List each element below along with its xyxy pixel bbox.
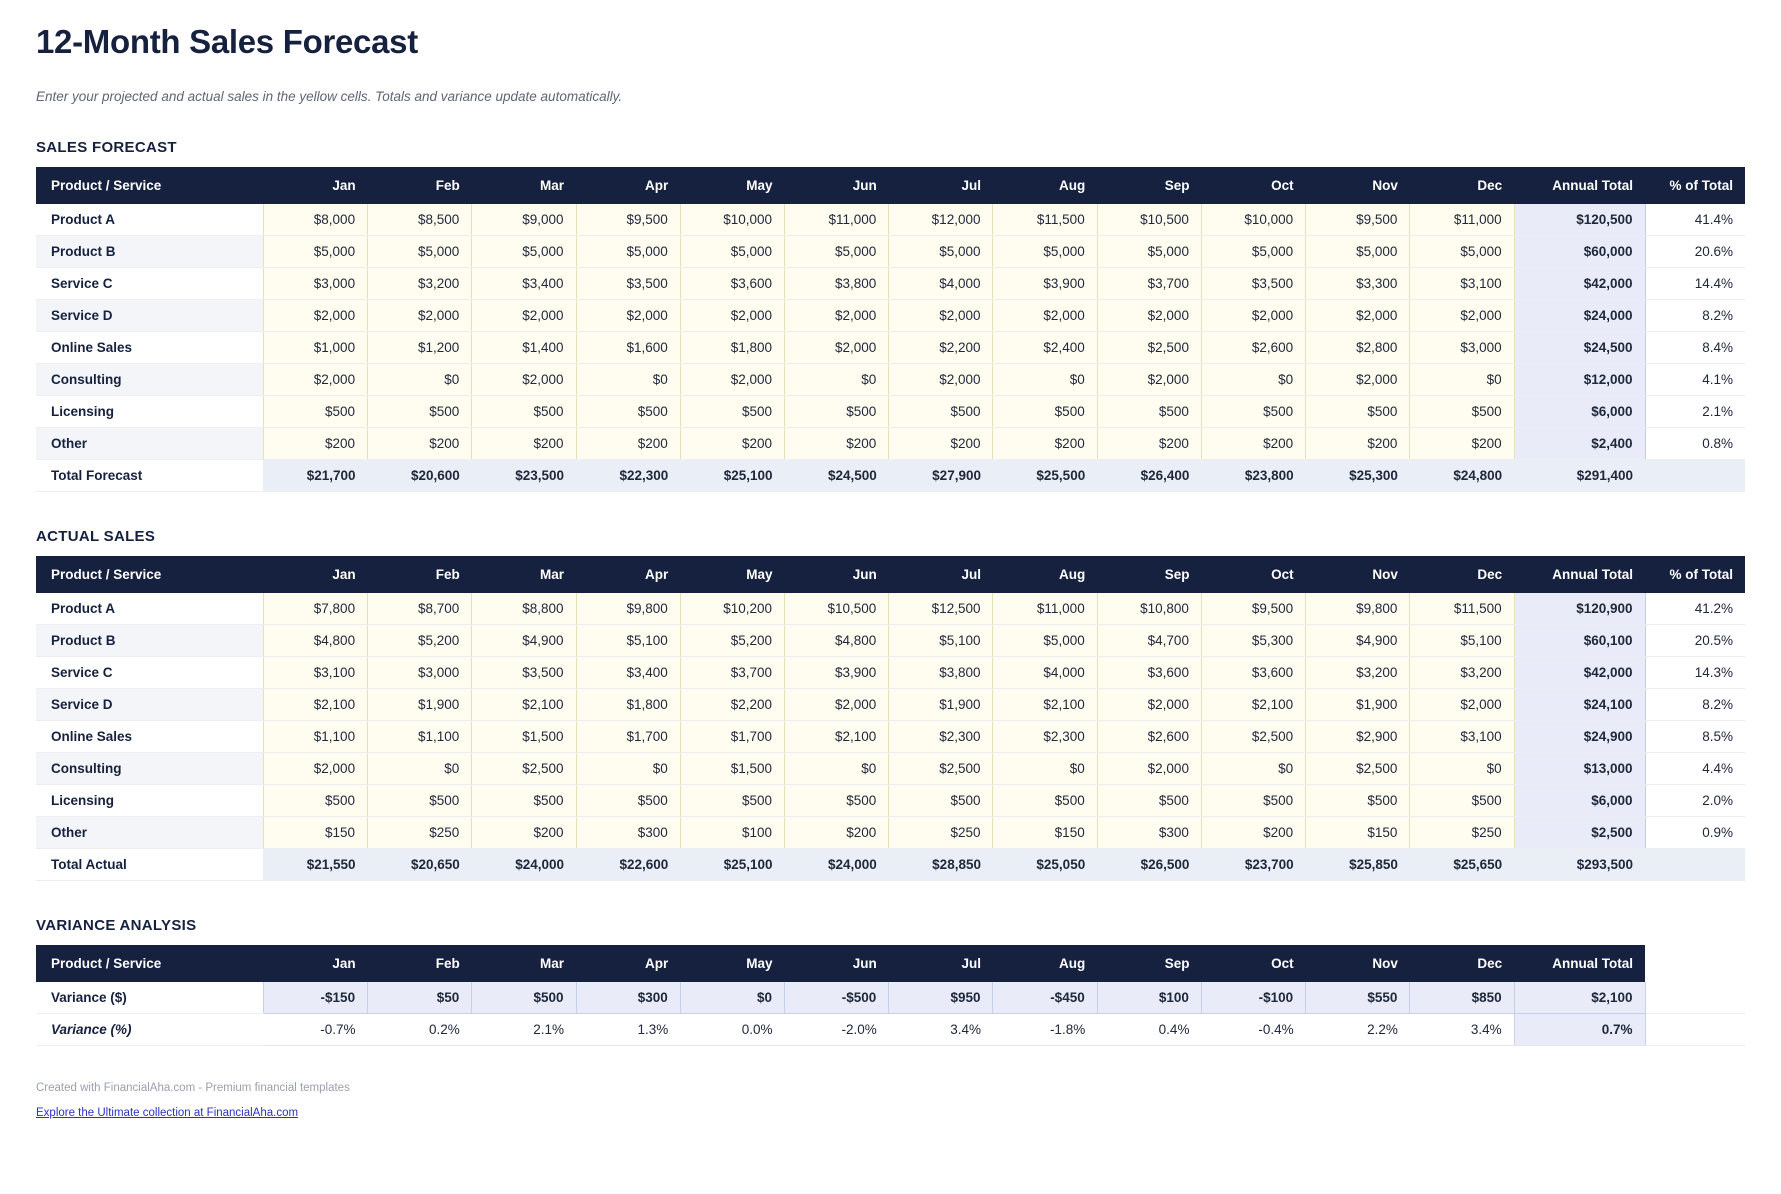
variance-cell-jan: -$150 — [263, 982, 367, 1014]
input-cell-jul[interactable]: $4,000 — [889, 268, 993, 300]
col-header-jun: Jun — [785, 556, 889, 593]
pct-of-total-cell: 4.4% — [1645, 753, 1745, 785]
row-label: Online Sales — [36, 332, 263, 364]
input-cell-sep[interactable]: $2,000 — [1097, 364, 1201, 396]
input-cell-feb[interactable]: $2,000 — [368, 300, 472, 332]
annual-total-cell: $120,900 — [1514, 593, 1645, 625]
input-cell-jul[interactable]: $12,000 — [889, 204, 993, 236]
row-label: Licensing — [36, 785, 263, 817]
input-cell-may[interactable]: $1,700 — [680, 721, 784, 753]
document-page: 12-Month Sales Forecast Enter your proje… — [0, 0, 1781, 1139]
input-cell-sep[interactable]: $300 — [1097, 817, 1201, 849]
input-cell-jul[interactable]: $5,100 — [889, 625, 993, 657]
input-cell-dec[interactable]: $200 — [1410, 428, 1514, 460]
input-cell-nov[interactable]: $2,000 — [1306, 300, 1410, 332]
input-cell-feb[interactable]: $500 — [368, 396, 472, 428]
spacer-cell — [1645, 1014, 1745, 1046]
input-cell-aug[interactable]: $2,000 — [993, 300, 1097, 332]
input-cell-jan[interactable]: $2,000 — [263, 364, 367, 396]
input-cell-aug[interactable]: $200 — [993, 428, 1097, 460]
input-cell-sep[interactable]: $2,500 — [1097, 332, 1201, 364]
input-cell-jan[interactable]: $3,100 — [263, 657, 367, 689]
input-cell-oct[interactable]: $5,000 — [1201, 236, 1305, 268]
variance-cell-oct: -0.4% — [1201, 1014, 1305, 1046]
input-cell-jan[interactable]: $2,000 — [263, 753, 367, 785]
input-cell-mar[interactable]: $2,000 — [472, 300, 576, 332]
input-cell-jan[interactable]: $5,000 — [263, 236, 367, 268]
variance-cell-aug: -$450 — [993, 982, 1097, 1014]
input-cell-aug[interactable]: $5,000 — [993, 236, 1097, 268]
input-cell-oct[interactable]: $3,500 — [1201, 268, 1305, 300]
footer-note: Created with FinancialAha.com - Premium … — [36, 1082, 1745, 1094]
input-cell-jan[interactable]: $150 — [263, 817, 367, 849]
input-cell-may[interactable]: $2,000 — [680, 300, 784, 332]
variance-cell-jun: -$500 — [785, 982, 889, 1014]
input-cell-sep[interactable]: $500 — [1097, 396, 1201, 428]
input-cell-jun[interactable]: $0 — [785, 364, 889, 396]
variance-annual-total-cell: 0.7% — [1514, 1014, 1645, 1046]
input-cell-dec[interactable]: $5,000 — [1410, 236, 1514, 268]
input-cell-aug[interactable]: $500 — [993, 785, 1097, 817]
input-cell-jan[interactable]: $1,000 — [263, 332, 367, 364]
variance-cell-oct: -$100 — [1201, 982, 1305, 1014]
col-header-dec: Dec — [1410, 945, 1514, 982]
annual-total-cell: $42,000 — [1514, 657, 1645, 689]
input-cell-feb[interactable]: $500 — [368, 785, 472, 817]
col-header-mar: Mar — [472, 556, 576, 593]
input-cell-aug[interactable]: $2,100 — [993, 689, 1097, 721]
totals-row-label: Total Forecast — [36, 460, 263, 492]
input-cell-may[interactable]: $3,600 — [680, 268, 784, 300]
input-cell-jun[interactable]: $2,100 — [785, 721, 889, 753]
input-cell-sep[interactable]: $10,500 — [1097, 204, 1201, 236]
total-cell-feb: $20,600 — [368, 460, 472, 492]
pct-of-total-cell: 4.1% — [1645, 364, 1745, 396]
input-cell-oct[interactable]: $0 — [1201, 364, 1305, 396]
pct-of-total-cell: 14.3% — [1645, 657, 1745, 689]
input-cell-sep[interactable]: $10,800 — [1097, 593, 1201, 625]
row-label: Product B — [36, 236, 263, 268]
input-cell-oct[interactable]: $2,600 — [1201, 332, 1305, 364]
input-cell-apr[interactable]: $1,700 — [576, 721, 680, 753]
input-cell-sep[interactable]: $3,600 — [1097, 657, 1201, 689]
col-header-product-service: Product / Service — [36, 945, 263, 982]
input-cell-aug[interactable]: $150 — [993, 817, 1097, 849]
total-cell-feb: $20,650 — [368, 849, 472, 881]
totals-pct-cell — [1645, 460, 1745, 492]
input-cell-mar[interactable]: $2,000 — [472, 364, 576, 396]
page-subtitle: Enter your projected and actual sales in… — [36, 88, 1745, 106]
input-cell-jun[interactable]: $0 — [785, 753, 889, 785]
input-cell-apr[interactable]: $300 — [576, 817, 680, 849]
input-cell-jun[interactable]: $3,900 — [785, 657, 889, 689]
variance-cell-apr: $300 — [576, 982, 680, 1014]
input-cell-may[interactable]: $5,000 — [680, 236, 784, 268]
pct-of-total-cell: 20.6% — [1645, 236, 1745, 268]
input-cell-may[interactable]: $2,000 — [680, 364, 784, 396]
input-cell-mar[interactable]: $2,100 — [472, 689, 576, 721]
input-cell-oct[interactable]: $5,300 — [1201, 625, 1305, 657]
annual-total-cell: $13,000 — [1514, 753, 1645, 785]
input-cell-nov[interactable]: $9,800 — [1306, 593, 1410, 625]
variance-annual-total-cell: $2,100 — [1514, 982, 1645, 1014]
input-cell-jun[interactable]: $3,800 — [785, 268, 889, 300]
input-cell-dec[interactable]: $3,100 — [1410, 721, 1514, 753]
input-cell-aug[interactable]: $0 — [993, 753, 1097, 785]
row-label: Service C — [36, 657, 263, 689]
input-cell-dec[interactable]: $11,500 — [1410, 593, 1514, 625]
input-cell-jul[interactable]: $250 — [889, 817, 993, 849]
input-cell-mar[interactable]: $3,400 — [472, 268, 576, 300]
col-header-apr: Apr — [576, 556, 680, 593]
input-cell-jul[interactable]: $2,000 — [889, 300, 993, 332]
input-cell-jul[interactable]: $2,000 — [889, 364, 993, 396]
input-cell-sep[interactable]: $5,000 — [1097, 236, 1201, 268]
input-cell-may[interactable]: $10,200 — [680, 593, 784, 625]
input-cell-mar[interactable]: $1,500 — [472, 721, 576, 753]
input-cell-apr[interactable]: $3,500 — [576, 268, 680, 300]
input-cell-jul[interactable]: $200 — [889, 428, 993, 460]
input-cell-sep[interactable]: $4,700 — [1097, 625, 1201, 657]
annual-total-cell: $24,100 — [1514, 689, 1645, 721]
input-cell-apr[interactable]: $500 — [576, 785, 680, 817]
grand-total-cell: $291,400 — [1514, 460, 1645, 492]
input-cell-jul[interactable]: $1,900 — [889, 689, 993, 721]
input-cell-may[interactable]: $10,000 — [680, 204, 784, 236]
input-cell-mar[interactable]: $5,000 — [472, 236, 576, 268]
input-cell-feb[interactable]: $1,100 — [368, 721, 472, 753]
input-cell-mar[interactable]: $1,400 — [472, 332, 576, 364]
table-row: Product A$8,000$8,500$9,000$9,500$10,000… — [36, 204, 1745, 236]
input-cell-jun[interactable]: $11,000 — [785, 204, 889, 236]
input-cell-jul[interactable]: $2,300 — [889, 721, 993, 753]
input-cell-nov[interactable]: $150 — [1306, 817, 1410, 849]
annual-total-cell: $24,000 — [1514, 300, 1645, 332]
input-cell-feb[interactable]: $3,000 — [368, 657, 472, 689]
input-cell-oct[interactable]: $500 — [1201, 396, 1305, 428]
annual-total-cell: $120,500 — [1514, 204, 1645, 236]
input-cell-aug[interactable]: $500 — [993, 396, 1097, 428]
col-header-dec: Dec — [1410, 556, 1514, 593]
input-cell-may[interactable]: $100 — [680, 817, 784, 849]
input-cell-dec[interactable]: $3,100 — [1410, 268, 1514, 300]
input-cell-aug[interactable]: $11,000 — [993, 593, 1097, 625]
input-cell-nov[interactable]: $2,000 — [1306, 364, 1410, 396]
row-label: Product B — [36, 625, 263, 657]
input-cell-jul[interactable]: $500 — [889, 396, 993, 428]
total-cell-nov: $25,300 — [1306, 460, 1410, 492]
input-cell-jul[interactable]: $5,000 — [889, 236, 993, 268]
row-label: Online Sales — [36, 721, 263, 753]
input-cell-may[interactable]: $500 — [680, 785, 784, 817]
input-cell-oct[interactable]: $2,100 — [1201, 689, 1305, 721]
input-cell-aug[interactable]: $11,500 — [993, 204, 1097, 236]
input-cell-feb[interactable]: $5,000 — [368, 236, 472, 268]
input-cell-nov[interactable]: $5,000 — [1306, 236, 1410, 268]
input-cell-jul[interactable]: $500 — [889, 785, 993, 817]
input-cell-sep[interactable]: $2,600 — [1097, 721, 1201, 753]
input-cell-apr[interactable]: $2,000 — [576, 300, 680, 332]
input-cell-nov[interactable]: $500 — [1306, 785, 1410, 817]
input-cell-dec[interactable]: $5,100 — [1410, 625, 1514, 657]
input-cell-may[interactable]: $5,200 — [680, 625, 784, 657]
input-cell-dec[interactable]: $11,000 — [1410, 204, 1514, 236]
variance-dollar-row: Variance ($)-$150$50$500$300$0-$500$950-… — [36, 982, 1745, 1014]
table-row: Consulting$2,000$0$2,000$0$2,000$0$2,000… — [36, 364, 1745, 396]
col-header-jun: Jun — [785, 945, 889, 982]
input-cell-mar[interactable]: $4,900 — [472, 625, 576, 657]
input-cell-apr[interactable]: $1,800 — [576, 689, 680, 721]
input-cell-jan[interactable]: $500 — [263, 785, 367, 817]
col-header-annual-total: Annual Total — [1514, 556, 1645, 593]
input-cell-jan[interactable]: $2,100 — [263, 689, 367, 721]
forecast-header-row: Product / ServiceJanFebMarAprMayJunJulAu… — [36, 167, 1745, 204]
col-header-dec: Dec — [1410, 167, 1514, 204]
col-header-sep: Sep — [1097, 556, 1201, 593]
input-cell-apr[interactable]: $9,800 — [576, 593, 680, 625]
input-cell-apr[interactable]: $3,400 — [576, 657, 680, 689]
input-cell-feb[interactable]: $8,500 — [368, 204, 472, 236]
table-row: Product B$4,800$5,200$4,900$5,100$5,200$… — [36, 625, 1745, 657]
input-cell-may[interactable]: $500 — [680, 396, 784, 428]
input-cell-jan[interactable]: $7,800 — [263, 593, 367, 625]
section-label-actual: ACTUAL SALES — [36, 528, 1745, 545]
table-row: Product B$5,000$5,000$5,000$5,000$5,000$… — [36, 236, 1745, 268]
table-row: Service C$3,100$3,000$3,500$3,400$3,700$… — [36, 657, 1745, 689]
input-cell-nov[interactable]: $4,900 — [1306, 625, 1410, 657]
input-cell-jun[interactable]: $200 — [785, 428, 889, 460]
col-header-jul: Jul — [889, 945, 993, 982]
input-cell-feb[interactable]: $5,200 — [368, 625, 472, 657]
input-cell-oct[interactable]: $2,500 — [1201, 721, 1305, 753]
variance-header-row: Product / ServiceJanFebMarAprMayJunJulAu… — [36, 945, 1745, 982]
input-cell-oct[interactable]: $3,600 — [1201, 657, 1305, 689]
input-cell-dec[interactable]: $500 — [1410, 396, 1514, 428]
total-cell-oct: $23,800 — [1201, 460, 1305, 492]
input-cell-may[interactable]: $1,800 — [680, 332, 784, 364]
input-cell-feb[interactable]: $0 — [368, 364, 472, 396]
input-cell-apr[interactable]: $0 — [576, 364, 680, 396]
input-cell-feb[interactable]: $200 — [368, 428, 472, 460]
col-header-feb: Feb — [368, 945, 472, 982]
input-cell-feb[interactable]: $1,900 — [368, 689, 472, 721]
input-cell-aug[interactable]: $4,000 — [993, 657, 1097, 689]
input-cell-feb[interactable]: $8,700 — [368, 593, 472, 625]
input-cell-jul[interactable]: $2,500 — [889, 753, 993, 785]
input-cell-dec[interactable]: $0 — [1410, 753, 1514, 785]
input-cell-jan[interactable]: $4,800 — [263, 625, 367, 657]
col-header-annual-total: Annual Total — [1514, 167, 1645, 204]
row-label: Licensing — [36, 396, 263, 428]
input-cell-may[interactable]: $200 — [680, 428, 784, 460]
total-cell-apr: $22,600 — [576, 849, 680, 881]
input-cell-jan[interactable]: $2,000 — [263, 300, 367, 332]
input-cell-nov[interactable]: $500 — [1306, 396, 1410, 428]
input-cell-oct[interactable]: $200 — [1201, 428, 1305, 460]
input-cell-feb[interactable]: $1,200 — [368, 332, 472, 364]
input-cell-nov[interactable]: $2,800 — [1306, 332, 1410, 364]
footer-promo-link[interactable]: Explore the Ultimate collection at Finan… — [36, 1107, 298, 1119]
input-cell-sep[interactable]: $200 — [1097, 428, 1201, 460]
section-label-variance: VARIANCE ANALYSIS — [36, 917, 1745, 934]
total-cell-may: $25,100 — [680, 460, 784, 492]
input-cell-mar[interactable]: $2,500 — [472, 753, 576, 785]
input-cell-jun[interactable]: $200 — [785, 817, 889, 849]
col-header-jan: Jan — [263, 556, 367, 593]
input-cell-apr[interactable]: $9,500 — [576, 204, 680, 236]
row-label: Service C — [36, 268, 263, 300]
input-cell-jun[interactable]: $500 — [785, 396, 889, 428]
input-cell-jul[interactable]: $2,200 — [889, 332, 993, 364]
pct-of-total-cell: 0.9% — [1645, 817, 1745, 849]
input-cell-feb[interactable]: $250 — [368, 817, 472, 849]
pct-of-total-cell: 0.8% — [1645, 428, 1745, 460]
input-cell-mar[interactable]: $200 — [472, 428, 576, 460]
variance-cell-dec: 3.4% — [1410, 1014, 1514, 1046]
input-cell-jan[interactable]: $200 — [263, 428, 367, 460]
input-cell-dec[interactable]: $3,200 — [1410, 657, 1514, 689]
input-cell-apr[interactable]: $5,000 — [576, 236, 680, 268]
col-header-sep: Sep — [1097, 167, 1201, 204]
input-cell-oct[interactable]: $2,000 — [1201, 300, 1305, 332]
col-header-feb: Feb — [368, 556, 472, 593]
input-cell-jun[interactable]: $2,000 — [785, 300, 889, 332]
col-header-mar: Mar — [472, 167, 576, 204]
input-cell-jun[interactable]: $500 — [785, 785, 889, 817]
input-cell-jul[interactable]: $3,800 — [889, 657, 993, 689]
input-cell-apr[interactable]: $500 — [576, 396, 680, 428]
input-cell-dec[interactable]: $3,000 — [1410, 332, 1514, 364]
pct-of-total-cell: 8.2% — [1645, 689, 1745, 721]
input-cell-nov[interactable]: $1,900 — [1306, 689, 1410, 721]
input-cell-oct[interactable]: $500 — [1201, 785, 1305, 817]
variance-table-body: Variance ($)-$150$50$500$300$0-$500$950-… — [36, 982, 1745, 1046]
input-cell-jun[interactable]: $2,000 — [785, 689, 889, 721]
table-row: Online Sales$1,000$1,200$1,400$1,600$1,8… — [36, 332, 1745, 364]
input-cell-aug[interactable]: $2,400 — [993, 332, 1097, 364]
col-header-pct-of-total: % of Total — [1645, 167, 1745, 204]
input-cell-aug[interactable]: $3,900 — [993, 268, 1097, 300]
input-cell-aug[interactable]: $2,300 — [993, 721, 1097, 753]
input-cell-apr[interactable]: $0 — [576, 753, 680, 785]
input-cell-nov[interactable]: $9,500 — [1306, 204, 1410, 236]
input-cell-sep[interactable]: $2,000 — [1097, 689, 1201, 721]
col-header-oct: Oct — [1201, 556, 1305, 593]
input-cell-oct[interactable]: $0 — [1201, 753, 1305, 785]
row-label: Service D — [36, 300, 263, 332]
table-row: Service D$2,000$2,000$2,000$2,000$2,000$… — [36, 300, 1745, 332]
table-row: Licensing$500$500$500$500$500$500$500$50… — [36, 396, 1745, 428]
col-header-jul: Jul — [889, 556, 993, 593]
input-cell-nov[interactable]: $200 — [1306, 428, 1410, 460]
input-cell-jan[interactable]: $500 — [263, 396, 367, 428]
total-cell-mar: $23,500 — [472, 460, 576, 492]
row-label: Variance ($) — [36, 982, 263, 1014]
input-cell-apr[interactable]: $200 — [576, 428, 680, 460]
table-row: Consulting$2,000$0$2,500$0$1,500$0$2,500… — [36, 753, 1745, 785]
total-cell-mar: $24,000 — [472, 849, 576, 881]
input-cell-mar[interactable]: $500 — [472, 396, 576, 428]
input-cell-oct[interactable]: $200 — [1201, 817, 1305, 849]
input-cell-apr[interactable]: $5,100 — [576, 625, 680, 657]
annual-total-cell: $6,000 — [1514, 785, 1645, 817]
input-cell-jun[interactable]: $10,500 — [785, 593, 889, 625]
variance-cell-nov: $550 — [1306, 982, 1410, 1014]
variance-cell-jan: -0.7% — [263, 1014, 367, 1046]
input-cell-jun[interactable]: $4,800 — [785, 625, 889, 657]
input-cell-aug[interactable]: $5,000 — [993, 625, 1097, 657]
table-row: Service C$3,000$3,200$3,400$3,500$3,600$… — [36, 268, 1745, 300]
input-cell-nov[interactable]: $2,900 — [1306, 721, 1410, 753]
input-cell-mar[interactable]: $8,800 — [472, 593, 576, 625]
pct-of-total-cell: 8.2% — [1645, 300, 1745, 332]
input-cell-oct[interactable]: $10,000 — [1201, 204, 1305, 236]
table-row: Other$200$200$200$200$200$200$200$200$20… — [36, 428, 1745, 460]
total-cell-may: $25,100 — [680, 849, 784, 881]
col-header-may: May — [680, 167, 784, 204]
input-cell-sep[interactable]: $500 — [1097, 785, 1201, 817]
input-cell-mar[interactable]: $500 — [472, 785, 576, 817]
col-header-nov: Nov — [1306, 556, 1410, 593]
col-header-pct-of-total: % of Total — [1645, 556, 1745, 593]
input-cell-aug[interactable]: $0 — [993, 364, 1097, 396]
input-cell-apr[interactable]: $1,600 — [576, 332, 680, 364]
row-label: Other — [36, 428, 263, 460]
variance-cell-feb: $50 — [368, 982, 472, 1014]
annual-total-cell: $12,000 — [1514, 364, 1645, 396]
total-cell-dec: $24,800 — [1410, 460, 1514, 492]
input-cell-feb[interactable]: $3,200 — [368, 268, 472, 300]
input-cell-dec[interactable]: $250 — [1410, 817, 1514, 849]
forecast-table-head: Product / ServiceJanFebMarAprMayJunJulAu… — [36, 167, 1745, 204]
annual-total-cell: $2,500 — [1514, 817, 1645, 849]
input-cell-dec[interactable]: $0 — [1410, 364, 1514, 396]
input-cell-mar[interactable]: $200 — [472, 817, 576, 849]
pct-of-total-cell: 41.2% — [1645, 593, 1745, 625]
input-cell-jan[interactable]: $3,000 — [263, 268, 367, 300]
total-cell-jun: $24,000 — [785, 849, 889, 881]
input-cell-mar[interactable]: $3,500 — [472, 657, 576, 689]
variance-cell-mar: 2.1% — [472, 1014, 576, 1046]
input-cell-dec[interactable]: $500 — [1410, 785, 1514, 817]
input-cell-may[interactable]: $2,200 — [680, 689, 784, 721]
input-cell-may[interactable]: $1,500 — [680, 753, 784, 785]
input-cell-oct[interactable]: $9,500 — [1201, 593, 1305, 625]
table-row: Other$150$250$200$300$100$200$250$150$30… — [36, 817, 1745, 849]
input-cell-mar[interactable]: $9,000 — [472, 204, 576, 236]
input-cell-jan[interactable]: $8,000 — [263, 204, 367, 236]
input-cell-nov[interactable]: $2,500 — [1306, 753, 1410, 785]
input-cell-dec[interactable]: $2,000 — [1410, 689, 1514, 721]
input-cell-may[interactable]: $3,700 — [680, 657, 784, 689]
variance-cell-sep: $100 — [1097, 982, 1201, 1014]
input-cell-nov[interactable]: $3,200 — [1306, 657, 1410, 689]
variance-cell-mar: $500 — [472, 982, 576, 1014]
col-header-nov: Nov — [1306, 167, 1410, 204]
input-cell-jul[interactable]: $12,500 — [889, 593, 993, 625]
input-cell-jan[interactable]: $1,100 — [263, 721, 367, 753]
input-cell-jun[interactable]: $2,000 — [785, 332, 889, 364]
input-cell-dec[interactable]: $2,000 — [1410, 300, 1514, 332]
input-cell-sep[interactable]: $3,700 — [1097, 268, 1201, 300]
input-cell-sep[interactable]: $2,000 — [1097, 300, 1201, 332]
input-cell-sep[interactable]: $2,000 — [1097, 753, 1201, 785]
input-cell-feb[interactable]: $0 — [368, 753, 472, 785]
variance-cell-jul: $950 — [889, 982, 993, 1014]
input-cell-nov[interactable]: $3,300 — [1306, 268, 1410, 300]
input-cell-jun[interactable]: $5,000 — [785, 236, 889, 268]
total-cell-oct: $23,700 — [1201, 849, 1305, 881]
